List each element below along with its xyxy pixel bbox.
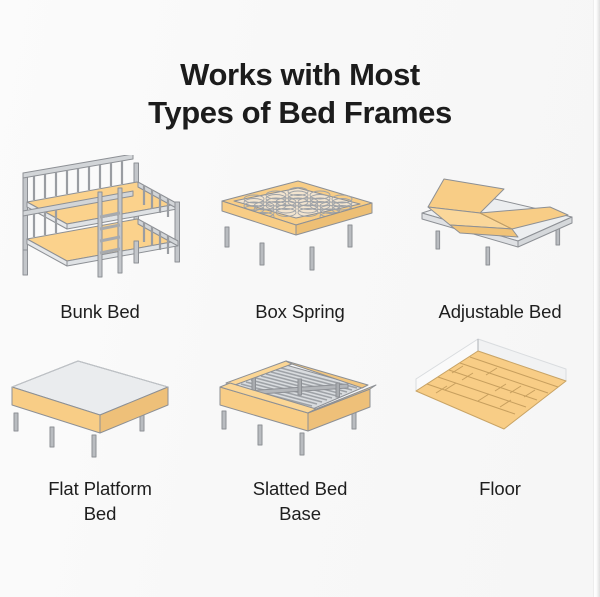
bunk-bed-illustration	[0, 155, 200, 285]
box-spring-illustration	[200, 155, 400, 285]
bed-frame-label: Bunk Bed	[60, 299, 139, 324]
bed-frame-item-adjustable-bed[interactable]: Adjustable Bed	[400, 155, 600, 335]
adjustable-bed-illustration	[400, 155, 600, 285]
bed-frame-item-box-spring[interactable]: Box Spring	[200, 155, 400, 335]
bed-frame-label: Flat Platform Bed	[48, 476, 152, 526]
slatted-bed-base-illustration	[200, 335, 400, 460]
bed-frame-label: Adjustable Bed	[438, 299, 561, 324]
bed-frame-item-floor[interactable]: Floor	[400, 335, 600, 525]
bed-frame-item-bunk-bed[interactable]: Bunk Bed	[0, 155, 200, 335]
bed-frame-row-2: Flat Platform Bed	[0, 335, 600, 525]
bed-frame-item-flat-platform-bed[interactable]: Flat Platform Bed	[0, 335, 200, 525]
bed-frame-item-slatted-bed-base[interactable]: Slatted Bed Base	[200, 335, 400, 525]
bed-frame-grid: Bunk Bed	[0, 155, 600, 525]
page-title: Works with Most Types of Bed Frames	[0, 56, 600, 132]
bed-frame-row-1: Bunk Bed	[0, 155, 600, 335]
bed-frame-label: Box Spring	[255, 299, 345, 324]
bed-frame-compatibility-panel: Works with Most Types of Bed Frames	[0, 0, 600, 597]
bed-frame-label: Floor	[479, 476, 521, 501]
floor-illustration	[400, 335, 600, 460]
bed-frame-label: Slatted Bed Base	[253, 476, 348, 526]
flat-platform-bed-illustration	[0, 335, 200, 460]
